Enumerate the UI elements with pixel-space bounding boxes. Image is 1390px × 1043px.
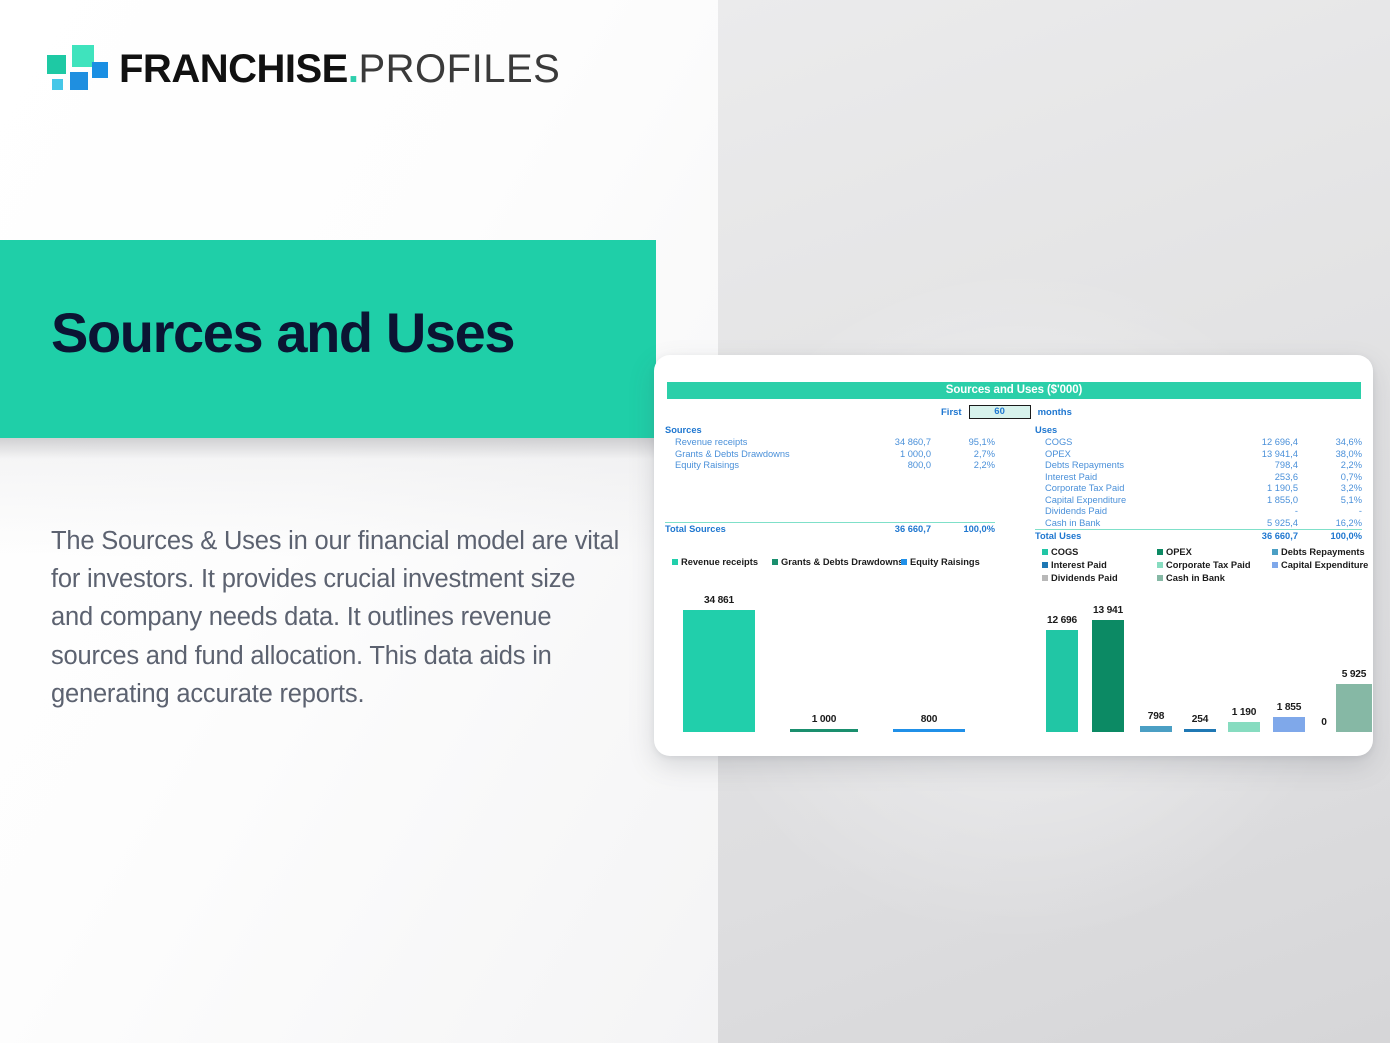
bar-rect	[1228, 722, 1260, 732]
table-row: Debts Repayments798,42,2%	[1035, 460, 1362, 472]
uses-total-row: Total Uses 36 660,7 100,0%	[1035, 529, 1362, 542]
legend-item[interactable]: Revenue receipts	[672, 557, 758, 567]
legend-swatch-icon	[1042, 549, 1048, 555]
legend-swatch-icon	[1157, 562, 1163, 568]
bar-rect	[1273, 717, 1305, 732]
legend-item[interactable]: Interest Paid	[1042, 560, 1107, 570]
bar-rect	[1336, 684, 1372, 732]
table-row: Equity Raisings800,02,2%	[665, 460, 995, 472]
table-row: Interest Paid253,60,7%	[1035, 472, 1362, 484]
legend-swatch-icon	[1272, 562, 1278, 568]
legend-item[interactable]: Cash in Bank	[1157, 573, 1225, 583]
bar-value-label: 798	[1148, 711, 1164, 722]
logo-word-franchise: FRANCHISE	[119, 47, 348, 91]
uses-row-name: COGS	[1035, 437, 1210, 447]
page-title: Sources and Uses	[51, 305, 514, 361]
legend-swatch-icon	[1157, 575, 1163, 581]
uses-bar-chart: 12 69613 9417982541 1901 85505 925	[1040, 596, 1366, 732]
uses-row-percent: -	[1298, 506, 1362, 516]
bar-rect	[1046, 630, 1078, 732]
logo-mark-icon	[47, 44, 107, 96]
table-row: COGS12 696,434,6%	[1035, 437, 1362, 449]
uses-row-percent: 16,2%	[1298, 518, 1362, 528]
table-row: Grants & Debts Drawdowns1 000,02,7%	[665, 449, 995, 461]
bar-rect	[1184, 729, 1216, 732]
legend-label: Revenue receipts	[681, 557, 758, 567]
legend-swatch-icon	[672, 559, 678, 565]
uses-row-name: Cash in Bank	[1035, 518, 1210, 528]
legend-label: Dividends Paid	[1051, 573, 1118, 583]
uses-row-name: Interest Paid	[1035, 472, 1210, 482]
uses-row-amount: 798,4	[1210, 460, 1298, 470]
uses-heading: Uses	[1035, 425, 1362, 435]
bar-column: 800	[893, 714, 965, 732]
bar-value-label: 12 696	[1047, 615, 1077, 626]
logo-square-teal-small	[47, 55, 66, 74]
sources-row-percent: 2,2%	[931, 460, 995, 470]
bar-column: 1 190	[1228, 707, 1260, 732]
table-row: Capital Expenditure1 855,05,1%	[1035, 495, 1362, 507]
legend-label: Debts Repayments	[1281, 547, 1365, 557]
uses-row-percent: 2,2%	[1298, 460, 1362, 470]
legend-label: Grants & Debts Drawdowns	[781, 557, 903, 567]
uses-row-percent: 38,0%	[1298, 449, 1362, 459]
uses-row-name: Dividends Paid	[1035, 506, 1210, 516]
uses-row-percent: 3,2%	[1298, 483, 1362, 493]
uses-total-label: Total Uses	[1035, 531, 1210, 541]
logo-dot: .	[348, 47, 359, 91]
bar-rect	[790, 729, 858, 732]
logo-wordmark: FRANCHISE.PROFILES	[119, 41, 560, 97]
logo-square-blue-mid	[70, 72, 88, 90]
sources-total-label: Total Sources	[665, 524, 843, 534]
uses-total-percent: 100,0%	[1298, 531, 1362, 541]
legend-swatch-icon	[901, 559, 907, 565]
sources-row-amount: 1 000,0	[843, 449, 931, 459]
table-row: OPEX13 941,438,0%	[1035, 449, 1362, 461]
sources-bar-chart: 34 8611 000800	[678, 586, 990, 732]
bar-value-label: 34 861	[704, 595, 734, 606]
legend-item[interactable]: Grants & Debts Drawdowns	[772, 557, 903, 567]
table-row: Corporate Tax Paid1 190,53,2%	[1035, 483, 1362, 495]
period-months-input[interactable]: 60	[969, 405, 1031, 419]
bar-column: 1 855	[1273, 702, 1305, 732]
sources-total-amount: 36 660,7	[843, 524, 931, 534]
bar-rect	[683, 610, 755, 732]
card-title: Sources and Uses ($'000)	[667, 382, 1361, 399]
legend-swatch-icon	[1157, 549, 1163, 555]
legend-label: Equity Raisings	[910, 557, 980, 567]
sources-row-amount: 800,0	[843, 460, 931, 470]
logo-square-cyan-tiny	[52, 79, 63, 90]
uses-row-percent: 34,6%	[1298, 437, 1362, 447]
legend-item[interactable]: Equity Raisings	[901, 557, 980, 567]
uses-row-amount: 1 855,0	[1210, 495, 1298, 505]
uses-total-amount: 36 660,7	[1210, 531, 1298, 541]
legend-label: Corporate Tax Paid	[1166, 560, 1251, 570]
uses-row-name: OPEX	[1035, 449, 1210, 459]
bar-value-label: 800	[921, 714, 937, 725]
sources-row-name: Revenue receipts	[665, 437, 843, 447]
uses-row-amount: -	[1210, 506, 1298, 516]
sources-row-amount: 34 860,7	[843, 437, 931, 447]
legend-label: Cash in Bank	[1166, 573, 1225, 583]
bar-column: 254	[1184, 714, 1216, 732]
slide-canvas: FRANCHISE.PROFILES Sources and Uses The …	[0, 0, 1390, 1043]
bar-rect	[1140, 726, 1172, 732]
logo-square-mint-large	[72, 45, 94, 67]
uses-row-amount: 12 696,4	[1210, 437, 1298, 447]
bar-value-label: 254	[1192, 714, 1208, 725]
legend-swatch-icon	[1042, 575, 1048, 581]
sources-row-name: Grants & Debts Drawdowns	[665, 449, 843, 459]
sources-total-row: Total Sources 36 660,7 100,0%	[665, 522, 995, 535]
sources-table: Sources Revenue receipts34 860,795,1%Gra…	[665, 425, 995, 535]
bar-value-label: 1 000	[812, 714, 837, 725]
bar-column: 12 696	[1046, 615, 1078, 732]
uses-row-percent: 5,1%	[1298, 495, 1362, 505]
legend-label: Interest Paid	[1051, 560, 1107, 570]
uses-row-name: Corporate Tax Paid	[1035, 483, 1210, 493]
bar-rect	[893, 729, 965, 732]
legend-label: COGS	[1051, 547, 1078, 557]
uses-row-percent: 0,7%	[1298, 472, 1362, 482]
legend-label: Capital Expenditure	[1281, 560, 1368, 570]
bar-column: 34 861	[683, 595, 755, 732]
uses-row-amount: 1 190,5	[1210, 483, 1298, 493]
uses-row-amount: 253,6	[1210, 472, 1298, 482]
legend-label: OPEX	[1166, 547, 1192, 557]
bar-value-label: 1 855	[1277, 702, 1302, 713]
period-suffix-label: months	[1038, 407, 1072, 418]
uses-table: Uses COGS12 696,434,6%OPEX13 941,438,0%D…	[1035, 425, 1362, 542]
sources-row-name: Equity Raisings	[665, 460, 843, 470]
legend-item[interactable]: OPEX	[1157, 547, 1192, 557]
sources-total-percent: 100,0%	[931, 524, 995, 534]
legend-item[interactable]: Capital Expenditure	[1272, 560, 1368, 570]
bar-column: 5 925	[1336, 669, 1372, 732]
bar-column: 1 000	[790, 714, 858, 732]
bar-column: 798	[1140, 711, 1172, 732]
logo-word-profiles: PROFILES	[358, 47, 560, 91]
bar-value-label: 0	[1321, 717, 1326, 728]
legend-swatch-icon	[1272, 549, 1278, 555]
table-row: Cash in Bank5 925,416,2%	[1035, 518, 1362, 530]
legend-swatch-icon	[772, 559, 778, 565]
sources-row-percent: 95,1%	[931, 437, 995, 447]
uses-row-name: Capital Expenditure	[1035, 495, 1210, 505]
table-row: Dividends Paid--	[1035, 506, 1362, 518]
bar-column: 0	[1317, 717, 1331, 732]
period-selector-row: First 60 months	[654, 405, 1373, 421]
legend-item[interactable]: Corporate Tax Paid	[1157, 560, 1251, 570]
bar-column: 13 941	[1092, 605, 1124, 732]
bar-rect	[1092, 620, 1124, 732]
bar-value-label: 13 941	[1093, 605, 1123, 616]
legend-item[interactable]: Dividends Paid	[1042, 573, 1118, 583]
brand-logo[interactable]: FRANCHISE.PROFILES	[47, 44, 547, 100]
table-row: Revenue receipts34 860,795,1%	[665, 437, 995, 449]
hero-paragraph: The Sources & Uses in our financial mode…	[51, 522, 621, 713]
uses-row-amount: 5 925,4	[1210, 518, 1298, 528]
card-title-bar: Sources and Uses ($'000)	[667, 382, 1361, 399]
uses-row-amount: 13 941,4	[1210, 449, 1298, 459]
uses-row-name: Debts Repayments	[1035, 460, 1210, 470]
sources-row-percent: 2,7%	[931, 449, 995, 459]
logo-square-blue-bright	[92, 62, 108, 78]
period-prefix-label: First	[941, 407, 962, 418]
legend-swatch-icon	[1042, 562, 1048, 568]
legend-item[interactable]: Debts Repayments	[1272, 547, 1365, 557]
bar-value-label: 5 925	[1342, 669, 1367, 680]
legend-item[interactable]: COGS	[1042, 547, 1078, 557]
bar-value-label: 1 190	[1232, 707, 1257, 718]
sources-heading: Sources	[665, 425, 995, 435]
